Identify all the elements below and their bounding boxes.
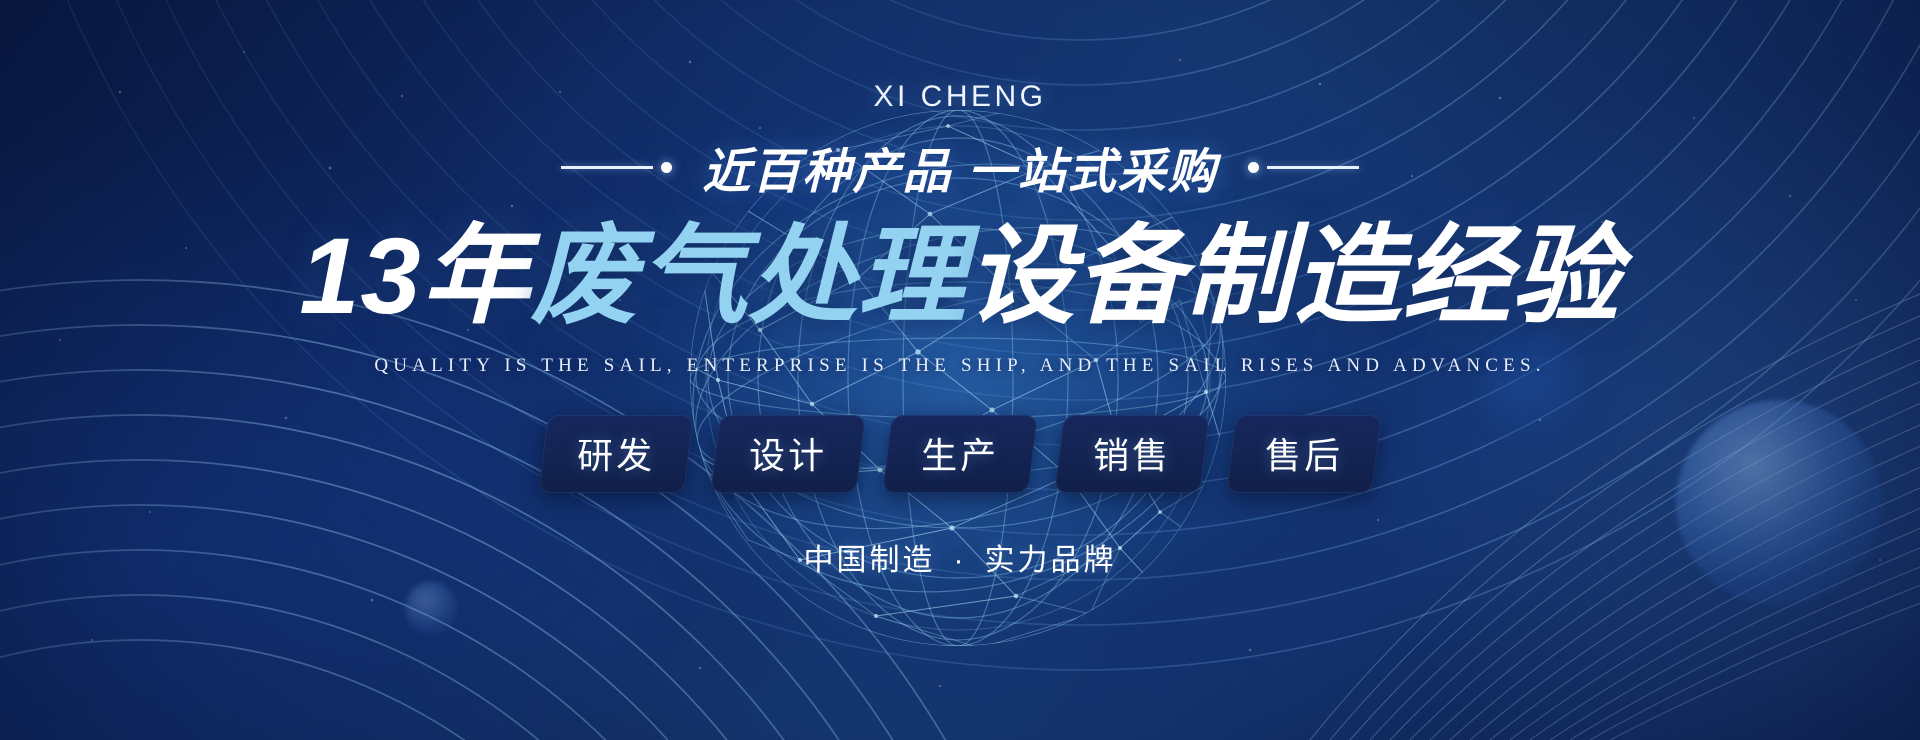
footer-right-text: 实力品牌 — [985, 544, 1117, 577]
left-rule-dot-icon — [661, 162, 672, 173]
pill-rd[interactable]: 研发 — [538, 415, 694, 493]
right-rule-dot-icon — [1248, 162, 1259, 173]
pill-after-sales[interactable]: 售后 — [1226, 415, 1382, 493]
pill-label: 设计 — [749, 427, 827, 479]
footer-tagline: 中国制造·实力品牌 — [804, 535, 1117, 579]
pill-label: 研发 — [577, 427, 655, 479]
right-rule-bar — [1267, 166, 1359, 169]
service-pill-list: 研发 设计 生产 销售 售后 — [543, 415, 1377, 493]
left-rule-bar — [561, 166, 653, 169]
pill-label: 销售 — [1093, 427, 1171, 479]
pill-sales[interactable]: 销售 — [1054, 415, 1210, 493]
footer-left-text: 中国制造 — [804, 544, 936, 577]
pill-label: 生产 — [921, 427, 999, 479]
headline: 13年废气处理设备制造经验 — [299, 212, 1620, 339]
subtitle-text: 近百种产品 一站式采购 — [702, 132, 1217, 202]
hero-banner: XI CHENG 近百种产品 一站式采购 13年废气处理设备制造经验 QUALI… — [0, 0, 1920, 740]
footer-separator-dot-icon: · — [936, 544, 985, 577]
banner-content: XI CHENG 近百种产品 一站式采购 13年废气处理设备制造经验 QUALI… — [0, 0, 1920, 740]
pill-label: 售后 — [1265, 427, 1343, 479]
left-rule-decoration — [561, 162, 672, 173]
pill-production[interactable]: 生产 — [882, 415, 1038, 493]
subtitle-row: 近百种产品 一站式采购 — [561, 132, 1358, 202]
pill-design[interactable]: 设计 — [710, 415, 866, 493]
brand-name-en: XI CHENG — [873, 80, 1046, 114]
tagline-en: QUALITY IS THE SAIL, ENTERPRISE IS THE S… — [374, 355, 1545, 377]
headline-suffix: 设备制造经验 — [967, 215, 1621, 336]
right-rule-decoration — [1248, 162, 1359, 173]
headline-accent: 废气处理 — [531, 215, 967, 336]
headline-prefix: 13年 — [299, 215, 530, 336]
